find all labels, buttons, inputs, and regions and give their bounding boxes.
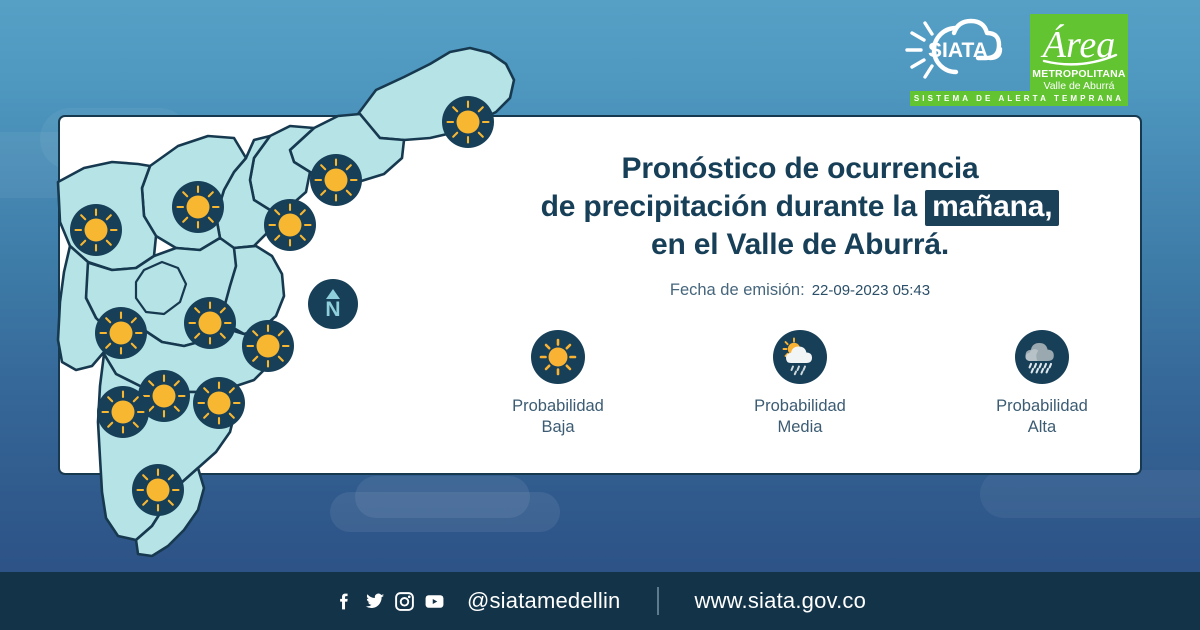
- social-links: [334, 591, 445, 612]
- twitter-icon[interactable]: [364, 591, 385, 612]
- emission-date: Fecha de emisión: 22-09-2023 05:43: [470, 281, 1130, 300]
- page-title: Pronóstico de ocurrencia de precipitació…: [470, 150, 1130, 264]
- siata-logo-icon: SIATA: [894, 14, 1022, 88]
- website-url[interactable]: www.siata.gov.co: [695, 588, 867, 614]
- probability-legend: Probabilidad Baja: [470, 330, 1130, 438]
- tagline-bar: SISTEMA DE ALERTA TEMPRANA: [910, 91, 1128, 106]
- cloud-decoration: [330, 492, 560, 532]
- headline-line-2-text: de precipitación durante la: [541, 190, 917, 223]
- legend-label-medium-line1: Probabilidad: [754, 396, 846, 417]
- logo-bar: SIATA Área METROPOLITANA Valle de Aburrá: [894, 14, 1128, 96]
- siata-wordmark: SIATA: [928, 39, 988, 62]
- cloud-decoration: [980, 470, 1200, 518]
- sun-icon: [531, 330, 585, 384]
- legend-item-medium[interactable]: Probabilidad Media: [725, 330, 875, 438]
- sun-rain-cloud-icon: [773, 330, 827, 384]
- forecast-panel: Pronóstico de ocurrencia de precipitació…: [470, 150, 1130, 438]
- legend-label-medium-line2: Media: [754, 417, 846, 438]
- area-script-icon: Área: [1036, 17, 1122, 69]
- footer-divider: [657, 587, 659, 615]
- legend-label-low-line2: Baja: [512, 417, 604, 438]
- legend-item-low[interactable]: Probabilidad Baja: [483, 330, 633, 438]
- legend-label-low-line1: Probabilidad: [512, 396, 604, 417]
- legend-item-high[interactable]: Probabilidad Alta: [967, 330, 1117, 438]
- emission-label: Fecha de emisión:: [670, 281, 805, 300]
- headline-line-2: de precipitación durante la mañana,: [470, 188, 1130, 226]
- headline-highlight: mañana,: [925, 190, 1059, 226]
- area-metropolitana-line1: METROPOLITANA: [1032, 69, 1125, 80]
- infographic-canvas: SIATA Área METROPOLITANA Valle de Aburrá…: [0, 0, 1200, 630]
- youtube-icon[interactable]: [424, 591, 445, 612]
- cloud-decoration: [355, 476, 530, 518]
- legend-label-high-line1: Probabilidad: [996, 396, 1088, 417]
- legend-label-high-line2: Alta: [996, 417, 1088, 438]
- headline-line-3: en el Valle de Aburrá.: [470, 226, 1130, 264]
- social-handle[interactable]: @siatamedellin: [467, 588, 621, 614]
- legend-label-high: Probabilidad Alta: [996, 396, 1088, 438]
- instagram-icon[interactable]: [394, 591, 415, 612]
- headline-line-1: Pronóstico de ocurrencia: [470, 150, 1130, 188]
- emission-value: 22-09-2023 05:43: [812, 282, 930, 299]
- rain-cloud-icon: [1015, 330, 1069, 384]
- footer-bar: @siatamedellin www.siata.gov.co: [0, 572, 1200, 630]
- legend-label-low: Probabilidad Baja: [512, 396, 604, 438]
- legend-label-medium: Probabilidad Media: [754, 396, 846, 438]
- area-metropolitana-logo: Área METROPOLITANA Valle de Aburrá: [1030, 14, 1128, 96]
- facebook-icon[interactable]: [334, 591, 355, 612]
